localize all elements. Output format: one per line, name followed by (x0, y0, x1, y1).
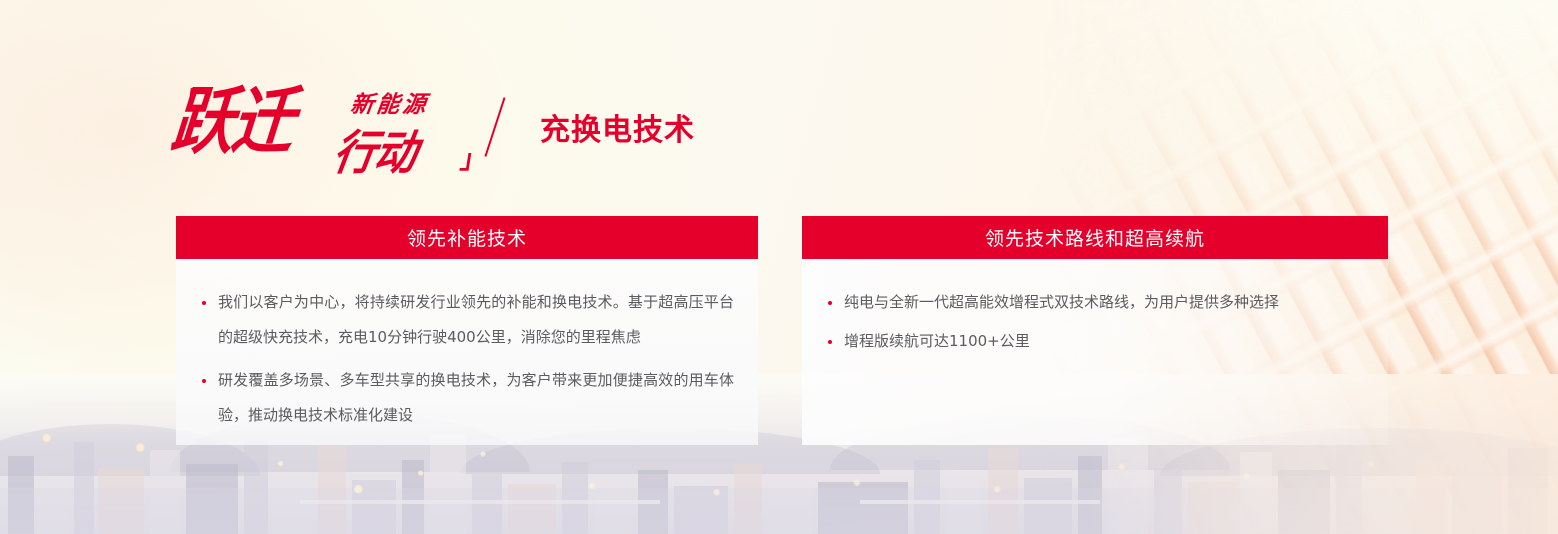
card-body: 纯电与全新一代超高能效增程式双技术路线，为用户提供多种选择 增程版续航可达110… (802, 259, 1388, 445)
bullet-list: 我们以客户为中心，将持续研发行业领先的补能和换电技术。基于超高压平台的超级快充技… (200, 285, 734, 433)
logo-main-text: 跃迁 (168, 85, 296, 158)
bullet-list: 纯电与全新一代超高能效增程式双技术路线，为用户提供多种选择 增程版续航可达110… (826, 285, 1364, 359)
list-item: 增程版续航可达1100+公里 (826, 324, 1364, 359)
card-body: 我们以客户为中心，将持续研发行业领先的补能和换电技术。基于超高压平台的超级快充技… (176, 259, 758, 445)
list-item: 纯电与全新一代超高能效增程式双技术路线，为用户提供多种选择 (826, 285, 1364, 320)
banner-header: 「 跃迁 新能源 行动 」 充换电技术 (176, 72, 695, 182)
list-item: 研发覆盖多场景、多车型共享的换电技术，为客户带来更加便捷高效的用车体验，推动换电… (200, 363, 734, 433)
bracket-close-icon: 」 (458, 139, 490, 176)
slash-divider-icon (484, 97, 505, 157)
banner-stage: 「 跃迁 新能源 行动 」 充换电技术 领先补能技术 我们以客户为中心，将持续研… (0, 0, 1558, 534)
card-title: 领先补能技术 (176, 216, 758, 259)
logo-subtitle-top: 新能源 (349, 85, 431, 119)
card-leading-tech-route-and-range: 领先技术路线和超高续航 纯电与全新一代超高能效增程式双技术路线，为用户提供多种选… (802, 216, 1388, 445)
brand-logo: 「 跃迁 新能源 行动 」 (176, 79, 476, 175)
list-item: 我们以客户为中心，将持续研发行业领先的补能和换电技术。基于超高压平台的超级快充技… (200, 285, 734, 355)
card-leading-energy-replenishment: 领先补能技术 我们以客户为中心，将持续研发行业领先的补能和换电技术。基于超高压平… (176, 216, 758, 445)
logo-subtitle-bottom: 行动 (329, 115, 422, 183)
card-title: 领先技术路线和超高续航 (802, 216, 1388, 259)
page-title: 充换电技术 (540, 105, 695, 149)
